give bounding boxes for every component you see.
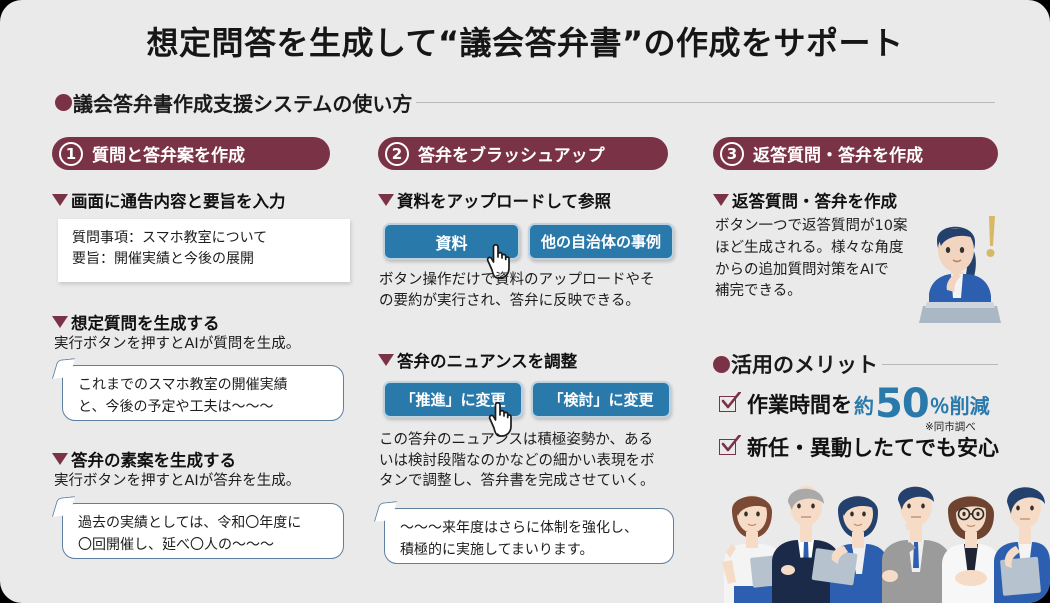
- merit-label-1: 作業時間を: [747, 389, 852, 419]
- triangle-marker-icon: [378, 354, 394, 366]
- section-heading: 議会答弁書作成支援システムの使い方: [55, 88, 995, 117]
- paragraph-2-2: この答弁のニュアンスは積極姿勢か、ある いは検討段階なのかなどの細かい表現をボ …: [379, 430, 691, 492]
- paragraph-line: ボタン操作だけで資料のアップロードやそ: [379, 270, 689, 291]
- triangle-marker-icon: [378, 194, 394, 206]
- bubble-line: これまでのスマホ教室の開催実績: [78, 375, 328, 397]
- change-to-consider-button[interactable]: 「検討」に変更: [531, 381, 671, 418]
- field-line: 要旨：開催実績と今後の展開: [72, 249, 336, 270]
- infographic-page: 想定問答を生成して“議会答弁書”の作成をサポート 議会答弁書作成支援システムの使…: [0, 0, 1050, 603]
- section-divider: [416, 102, 995, 103]
- merits-divider: [882, 364, 998, 365]
- bubble-line: 過去の実績としては、令和〇年度に: [78, 513, 328, 535]
- bullet-dot-icon: [55, 94, 72, 111]
- merits-heading-label: 活用のメリット: [731, 349, 878, 379]
- sub-heading-label: 返答質問・答弁を作成: [732, 188, 897, 212]
- sub-heading-label: 画面に通告内容と要旨を入力: [71, 188, 286, 212]
- sub-heading-2-1: 資料をアップロードして参照: [378, 188, 611, 212]
- triangle-marker-icon: [52, 453, 68, 465]
- upload-material-button[interactable]: 資料: [383, 223, 520, 260]
- button-label: 他の自治体の事例: [541, 231, 661, 252]
- paragraph-line: ほど生成される。様々な角度: [715, 238, 925, 260]
- bullet-dot-icon: [713, 356, 730, 373]
- triangle-marker-icon: [52, 316, 68, 328]
- merit-suffix-1: ％削減: [930, 390, 990, 419]
- merit-row-1: 作業時間を 約 50 ％削減: [719, 388, 990, 420]
- merit-label-2: 新任・異動したてでも安心: [747, 432, 999, 462]
- paragraph-1-1: 実行ボタンを押すとAIが質問を生成。: [54, 334, 374, 355]
- sub-heading-label: 資料をアップロードして参照: [397, 188, 611, 212]
- speech-bubble-1-2: 過去の実績としては、令和〇年度に 〇回開催し、延べ〇人の〜〜〜: [62, 503, 344, 559]
- merit-approx-1: 約: [854, 390, 874, 419]
- paragraph-1-2: 実行ボタンを押すとAIが答弁を生成。: [54, 471, 374, 492]
- sub-heading-label: 答弁の素案を生成する: [71, 447, 236, 471]
- speech-bubble-2-1: 〜〜〜来年度はさらに体制を強化し、 積極的に実施してまいります。: [384, 508, 674, 564]
- sub-heading-1-2: 想定質問を生成する: [52, 310, 220, 334]
- bubble-line: と、今後の予定や工夫は〜〜〜: [78, 397, 328, 419]
- other-municipality-cases-button[interactable]: 他の自治体の事例: [528, 223, 674, 260]
- step-badge-3: 3 返答質問・答弁を作成: [713, 137, 998, 170]
- merit-number-1: 50: [875, 388, 929, 420]
- speech-bubble-1-1: これまでのスマホ教室の開催実績 と、今後の予定や工夫は〜〜〜: [62, 365, 344, 421]
- bubble-line: 〇回開催し、延べ〇人の〜〜〜: [78, 535, 328, 557]
- paragraph-line: タンで調整し、答弁書を完成させていく。: [379, 471, 691, 492]
- step-badge-2: 2 答弁をブラッシュアップ: [378, 137, 668, 170]
- step-number-1: 1: [59, 142, 83, 166]
- change-to-promote-button[interactable]: 「推進」に変更: [383, 381, 523, 418]
- paragraph-3-1: ボタン一つで返答質問が10案 ほど生成される。様々な角度 からの追加質問対策をA…: [715, 216, 925, 303]
- merit-row-2: 新任・異動したてでも安心: [719, 432, 999, 462]
- step-label-3: 返答質問・答弁を作成: [753, 141, 923, 166]
- button-label: 資料: [435, 230, 467, 254]
- triangle-marker-icon: [52, 194, 68, 206]
- step-number-2: 2: [385, 142, 409, 166]
- paragraph-2-1: ボタン操作だけで資料のアップロードやそ の要約が実行され、答弁に反映できる。: [379, 270, 689, 311]
- paragraph-line: からの追加質問対策をAIで: [715, 260, 925, 282]
- field-line: 質問事項：スマホ教室について: [72, 228, 336, 249]
- step-badge-1: 1 質問と答弁案を作成: [52, 137, 330, 170]
- step-label-1: 質問と答弁案を作成: [92, 141, 245, 166]
- triangle-marker-icon: [713, 194, 729, 206]
- button-label: 「検討」に変更: [548, 389, 653, 410]
- checkbox-checked-icon: [719, 394, 741, 414]
- sub-heading-2-2: 答弁のニュアンスを調整: [378, 348, 577, 372]
- merits-heading: 活用のメリット: [713, 349, 998, 379]
- step-number-3: 3: [720, 142, 744, 166]
- sub-heading-label: 想定質問を生成する: [71, 310, 220, 334]
- bubble-line: 〜〜〜来年度はさらに体制を強化し、: [400, 518, 658, 540]
- sub-heading-1-3: 答弁の素案を生成する: [52, 447, 236, 471]
- checkbox-checked-icon: [719, 437, 741, 457]
- paragraph-line: ボタン一つで返答質問が10案: [715, 216, 925, 238]
- page-title: 想定問答を生成して“議会答弁書”の作成をサポート: [0, 18, 1050, 64]
- step-label-2: 答弁をブラッシュアップ: [418, 141, 605, 166]
- sub-heading-label: 答弁のニュアンスを調整: [397, 348, 577, 372]
- paragraph-line: 補完できる。: [715, 281, 925, 303]
- paragraph-line: この答弁のニュアンスは積極姿勢か、ある: [379, 430, 691, 451]
- paragraph-line: いは検討段階なのかなどの細かい表現をボ: [379, 451, 691, 472]
- paragraph-line: の要約が実行され、答弁に反映できる。: [379, 291, 689, 312]
- bubble-line: 積極的に実施してまいります。: [400, 540, 658, 562]
- sub-heading-3-1: 返答質問・答弁を作成: [713, 188, 897, 212]
- section-heading-label: 議会答弁書作成支援システムの使い方: [73, 88, 412, 117]
- button-label: 「推進」に変更: [400, 389, 505, 410]
- woman-laptop-illustration: [905, 198, 1015, 323]
- input-field-box[interactable]: 質問事項：スマホ教室について 要旨：開催実績と今後の展開: [58, 219, 350, 282]
- business-team-illustration: [706, 470, 1050, 603]
- sub-heading-1-1: 画面に通告内容と要旨を入力: [52, 188, 286, 212]
